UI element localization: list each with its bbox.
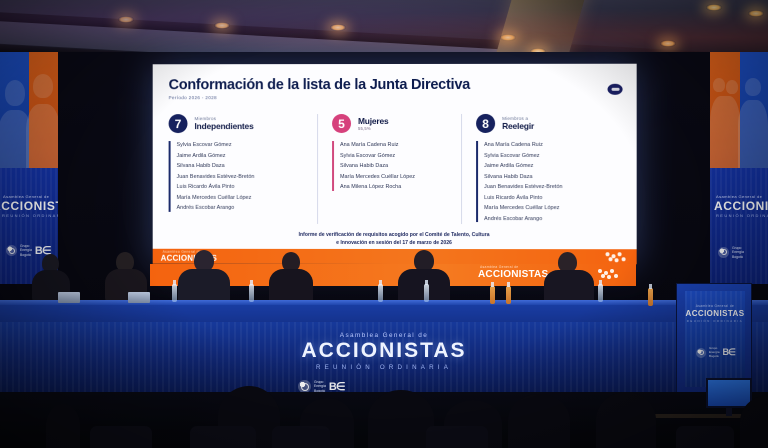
list-item: Andrés Escobar Arango (177, 203, 317, 214)
list-item: Jaime Ardila Gómez (484, 161, 620, 172)
laptop (58, 292, 80, 303)
list-item: Silvana Habib Daza (177, 161, 317, 172)
column-independientes: 7 Miembros Independientes Sylvia Escovar… (169, 114, 317, 224)
list-item: Sylvia Escovar Gómez (340, 151, 461, 162)
list-item: Juan Benavides Estévez-Bretón (177, 172, 317, 183)
slide-footer-line2: e Innovación en sesión del 17 de marzo d… (336, 240, 452, 246)
slide-title: Conformación de la lista de la Junta Dir… (169, 77, 621, 93)
column-label-big: Independientes (194, 121, 253, 131)
list-item: María Mercedes Cuéllar López (177, 193, 317, 204)
list-item: Silvana Habib Daza (484, 172, 620, 183)
water-bottle (249, 284, 254, 302)
table-branding: Asamblea General de ACCIONISTAS REUNIÓN … (0, 332, 768, 371)
right-led-column: Asamblea General de ACCIONISTAS REUNIÓN … (710, 52, 768, 288)
photo-figure (745, 78, 761, 96)
chair (272, 426, 330, 448)
list-item: Ana María Cadena Ruiz (484, 140, 620, 151)
slide-footer: Informe de verificación de requisitos ac… (153, 232, 637, 247)
podium-logo: GrupoEnergíaBogotá B∈ (696, 347, 735, 358)
slide-subtitle: Período 2026 - 2028 (169, 95, 621, 100)
panelist (268, 252, 314, 302)
photo-figure (5, 80, 25, 106)
column-label-big: Mujeres (358, 116, 389, 126)
photo-figure (713, 78, 725, 92)
left-led-column: Asamblea General de ACCIONISTAS REUNIÓN … (0, 52, 58, 284)
duotone-photo-blue (740, 52, 768, 168)
podium-subtitle: REUNIÓN ORDINARIA (685, 319, 745, 323)
duotone-photo-blue (0, 52, 29, 168)
logo-text: GrupoEnergíaBogotá (709, 347, 720, 358)
table-brand-title: ACCIONISTAS (0, 340, 768, 362)
list-item: María Mercedes Cuéllar López (340, 172, 461, 183)
orange-bar-dots-icon (606, 252, 628, 262)
stage-banner-title: ACCIONISTAS (478, 269, 548, 280)
list-item: Andrés Escobar Arango (484, 214, 620, 225)
count-badge: 7 (169, 114, 188, 133)
list-item: Luis Ricardo Ávila Pinto (484, 193, 620, 204)
chair (90, 426, 152, 448)
chair (190, 426, 256, 448)
list-item: Sylvia Escovar Gómez (484, 150, 620, 161)
slide-logo-badge-icon (608, 84, 623, 95)
duotone-photo-orange (710, 52, 740, 168)
list-item: Ana María Cadena Ruiz (340, 140, 461, 151)
duotone-photo-orange (29, 52, 58, 168)
name-list: Ana María Cadena Ruiz Sylvia Escovar Góm… (332, 140, 461, 193)
audience-member (368, 390, 434, 448)
podium-small: Asamblea General de (685, 304, 745, 308)
right-banner-title: ACCIONISTAS (714, 199, 768, 213)
slide-footer-line1: Informe de verificación de requisitos ac… (299, 232, 490, 238)
podium-title: ACCIONISTAS (685, 309, 745, 318)
list-item: Ana Milena López Rocha (340, 182, 461, 193)
monitor-stand (726, 407, 732, 416)
list-item: Juan Benavides Estévez-Bretón (484, 182, 620, 193)
brand-logo: GrupoEnergíaBogotá (718, 246, 744, 259)
chair (676, 426, 734, 448)
auditorium-scene: Asamblea General de ACCIONISTAS REUNIÓN … (0, 0, 768, 448)
name-list: Ana María Cadena Ruiz Sylvia Escovar Góm… (476, 140, 620, 224)
logo-monogram: B∈ (723, 347, 735, 358)
head-table-front: Asamblea General de ACCIONISTAS REUNIÓN … (0, 322, 768, 394)
right-banner: Asamblea General de ACCIONISTAS REUNIÓN … (710, 168, 768, 284)
panelist (178, 250, 230, 302)
column-label-big: Reelegir (502, 121, 534, 131)
logo-mark-icon (696, 348, 706, 358)
left-banner-title: ACCIONISTAS (0, 199, 58, 213)
water-bottle (506, 286, 511, 304)
list-item: Luis Ricardo Ávila Pinto (177, 182, 317, 193)
photo-figure (738, 100, 768, 168)
side-monitor (706, 378, 752, 408)
audience-member (508, 394, 570, 448)
photo-figure (33, 74, 53, 98)
panelist-body (269, 269, 313, 304)
name-list: Sylvia Escovar Gómez Jaime Ardila Gómez … (169, 140, 317, 214)
column-mujeres: 5 Mujeres 55,5% Ana María Cadena Ruiz Sy… (317, 114, 461, 224)
laptop (128, 292, 150, 303)
panelist (544, 252, 594, 302)
count-badge: 5 (332, 114, 351, 133)
banner-stripes (710, 168, 768, 284)
logo-text: GrupoEnergíaBogotá (732, 246, 744, 259)
stage-banner-dots-icon (598, 269, 620, 279)
water-bottle (172, 284, 177, 302)
left-banner-subtitle: REUNIÓN ORDINARIA (2, 213, 58, 218)
water-bottle (424, 284, 429, 302)
logo-mark-icon (718, 247, 729, 258)
list-item: Jaime Ardila Gómez (177, 151, 317, 162)
logo-text: GrupoEnergíaBogotá (314, 380, 326, 393)
table-brand-small: Asamblea General de (0, 332, 768, 339)
column-percent: 55,5% (358, 126, 389, 131)
count-badge: 8 (476, 114, 495, 133)
water-bottle (490, 286, 495, 304)
water-bottle (648, 288, 653, 306)
audience-member (596, 392, 656, 448)
photo-figure (710, 96, 740, 168)
presentation-slide: Conformación de la lista de la Junta Dir… (153, 64, 637, 265)
column-header: 8 Miembros a Reelegir (476, 114, 620, 133)
water-bottle (598, 284, 603, 302)
right-banner-subtitle: REUNIÓN ORDINARIA (716, 213, 768, 218)
podium-screen: Asamblea General de ACCIONISTAS REUNIÓN … (685, 291, 745, 387)
audience-member (46, 404, 80, 448)
water-bottle (378, 284, 383, 302)
list-item: María Mercedes Cuéllar López (484, 203, 620, 214)
column-header: 5 Mujeres 55,5% (332, 114, 461, 133)
column-reelegir: 8 Miembros a Reelegir Ana María Cadena R… (461, 114, 621, 225)
photo-figure (26, 104, 58, 170)
chair (426, 426, 488, 448)
list-item: Sylvia Escovar Gómez (177, 140, 317, 151)
list-item: Silvana Habib Daza (340, 161, 461, 172)
logo-mark-icon (6, 245, 17, 256)
table-brand-subtitle: REUNIÓN ORDINARIA (0, 364, 768, 371)
photo-figure (726, 80, 738, 94)
slide-columns: 7 Miembros Independientes Sylvia Escovar… (169, 114, 621, 225)
column-header: 7 Miembros Independientes (169, 114, 317, 133)
